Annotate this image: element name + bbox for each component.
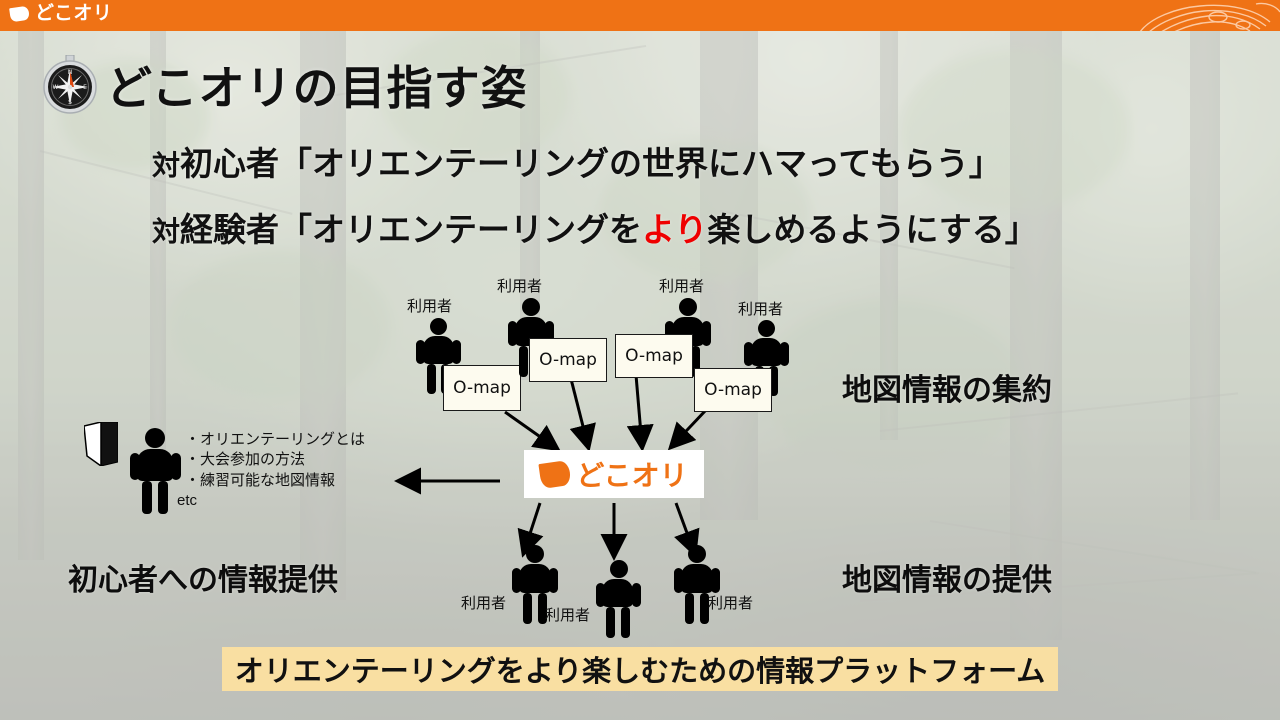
person-icon [674,545,720,625]
arrow-map-to-center [570,375,588,446]
omap-card: O-map [694,368,772,412]
upper-user-label: 利用者 [659,275,704,296]
upper-user-label: 利用者 [497,275,542,296]
person-icon [130,428,180,514]
arrow-map-to-center [505,412,556,448]
upper-user-label: 利用者 [407,295,452,316]
beginner-mark-icon [84,422,118,466]
info-item: ・大会参加の方法 [185,451,305,468]
center-node-dokoori[interactable]: どこオリ [524,450,704,498]
drop-leaf-icon [539,460,572,489]
info-item: ・オリエンテーリングとは [185,431,365,448]
arrow-map-to-center [672,410,706,446]
omap-card: O-map [615,334,693,378]
beginner-info-list: ・オリエンテーリングとは ・大会参加の方法 ・練習可能な地図情報 etc [185,430,365,511]
lower-user-label: 利用者 [545,604,590,625]
lower-user-label: 利用者 [708,592,753,613]
info-item-etc: etc [177,491,365,511]
label-map-aggregation: 地図情報の集約 [842,365,1052,409]
upper-user-label: 利用者 [738,298,783,319]
concept-diagram: 利用者 O-map 利用者 O-map 利用者 [0,0,1280,720]
label-beginner-info-provision: 初心者への情報提供 [68,555,338,599]
omap-card: O-map [529,338,607,382]
summary-banner: オリエンテーリングをより楽しむための情報プラットフォーム [222,647,1058,691]
arrow-map-to-center [636,375,642,446]
label-map-provision: 地図情報の提供 [842,555,1052,599]
slide: どこオリ [0,0,1280,720]
center-node-label: どこオリ [576,454,687,494]
person-icon [596,560,640,638]
info-item: ・練習可能な地図情報 [185,472,335,489]
summary-banner-text: オリエンテーリングをより楽しむための情報プラットフォーム [235,648,1046,690]
lower-user-label: 利用者 [461,592,506,613]
